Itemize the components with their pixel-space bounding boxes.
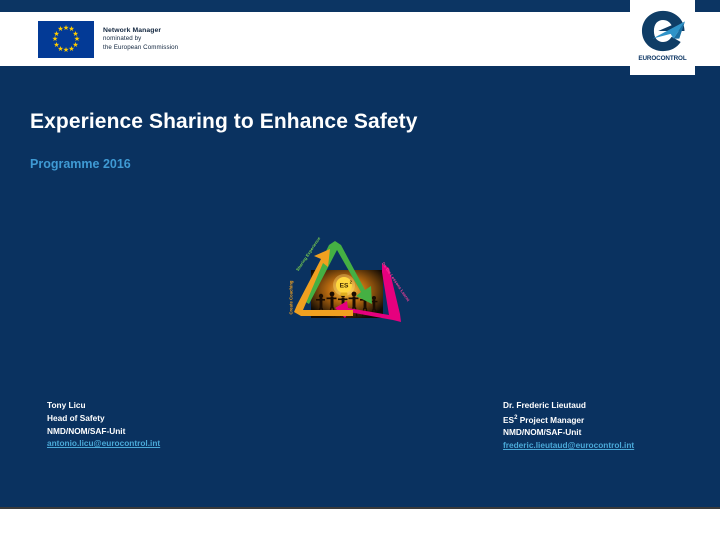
header-bottom-edge <box>0 66 720 68</box>
eurocontrol-wordmark: EUROCONTROL <box>638 55 686 62</box>
contact-role: Head of Safety <box>47 412 160 425</box>
cycle-label-coaching: Create Coaching <box>289 280 294 314</box>
presentation-slide: ★★★★★★★★★★★★ Network Manager nominated b… <box>0 0 720 509</box>
nm-line-1: Network Manager <box>103 27 178 36</box>
contact-name: Dr. Frederic Lieutaud <box>503 399 634 412</box>
contact-role-prefix: ES <box>503 415 514 425</box>
contact-unit: NMD/NOM/SAF-Unit <box>47 425 160 438</box>
eurocontrol-logo-panel: EUROCONTROL <box>630 0 695 75</box>
network-manager-text: Network Manager nominated by the Europea… <box>103 27 178 53</box>
contact-email-link[interactable]: frederic.lieutaud@eurocontrol.int <box>503 439 634 452</box>
contact-role-suffix: Project Manager <box>517 415 584 425</box>
contact-block-right: Dr. Frederic Lieutaud ES2 Project Manage… <box>503 399 634 452</box>
contact-role: ES2 Project Manager <box>503 412 634 427</box>
contact-email-link[interactable]: antonio.licu@eurocontrol.int <box>47 437 160 450</box>
eurocontrol-mark-icon <box>639 9 687 53</box>
svg-text:ES: ES <box>340 283 349 290</box>
contact-name: Tony Licu <box>47 399 160 412</box>
slide-subtitle: Programme 2016 <box>30 157 131 171</box>
eu-star-icon: ★ <box>57 26 64 33</box>
eu-flag-icon: ★★★★★★★★★★★★ <box>38 21 94 58</box>
slide-title: Experience Sharing to Enhance Safety <box>30 110 418 134</box>
header-top-band <box>0 0 720 12</box>
experience-sharing-cycle-graphic: ES 2 Sharing Experience Do the Lessons L… <box>283 228 413 328</box>
network-manager-logo: ★★★★★★★★★★★★ Network Manager nominated b… <box>38 21 178 58</box>
contact-block-left: Tony Licu Head of Safety NMD/NOM/SAF-Uni… <box>47 399 160 450</box>
nm-line-2: nominated by <box>103 35 178 44</box>
contact-unit: NMD/NOM/SAF-Unit <box>503 426 634 439</box>
nm-line-3: the European Commission <box>103 44 178 53</box>
es2-bulb-icon: ES 2 <box>333 274 355 296</box>
